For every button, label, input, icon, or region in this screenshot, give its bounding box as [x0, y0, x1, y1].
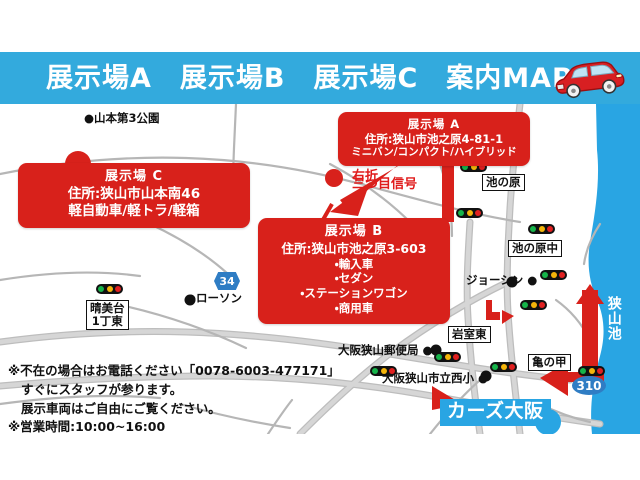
note-line-1: ※不在の場合はお電話ください「0078-6003-477171」 [8, 362, 340, 381]
boxlabel-harumidai: 晴美台 1丁東 [86, 300, 129, 330]
route-shield-34: 34 [214, 272, 240, 290]
header-bar: 展示場A 展示場B 展示場C 案内MAP [0, 52, 640, 104]
callout-a-title: 展示場 A [342, 117, 526, 132]
signal-icon [434, 352, 461, 362]
signal-icon [528, 224, 555, 234]
callout-b-address: 住所:狭山市池之原3-603 [262, 241, 446, 257]
callout-b-item: ・輸入車 [262, 257, 446, 272]
footer-note: ※不在の場合はお電話ください「0078-6003-477171」 すぐにスタッフ… [8, 362, 340, 437]
callout-tenjijo-c: 展示場 C 住所:狭山市山本南46 軽自動車/軽トラ/軽箱 [18, 163, 250, 228]
poi-nishi-elementary: 大阪狭山市立西小 ● [382, 372, 488, 385]
note-line-3: 展示車両はご自由にご覧ください。 [8, 400, 340, 419]
signal-icon [456, 208, 483, 218]
boxlabel-kamenoko: 亀の甲 [528, 354, 571, 371]
callout-tenjijo-a: 展示場 A 住所:狭山市池之原4-81-1 ミニバン/コンパクト/ハイブリッド [338, 112, 530, 166]
lake-label: 狭山池 [606, 296, 621, 341]
callout-b-item: ・セダン [262, 271, 446, 286]
signal-icon [578, 366, 605, 376]
note-line-2: すぐにスタッフが参ります。 [8, 381, 340, 400]
callout-a-address: 住所:狭山市池之原4-81-1 [342, 132, 526, 147]
page-title: 展示場A 展示場B 展示場C 案内MAP [46, 65, 573, 92]
poi-yamamoto-park: ●山本第3公園 [84, 112, 160, 125]
route-shield-310: 310 [572, 376, 606, 395]
cars-osaka-banner: カーズ大阪 [440, 399, 551, 426]
callout-a-detail: ミニバン/コンパクト/ハイブリッド [342, 146, 526, 159]
boxlabel-ikenohara: 池の原 [482, 174, 525, 191]
label-right-turn: 右折 [352, 170, 378, 184]
callout-b-item: ・商用車 [262, 301, 446, 316]
callout-c-title: 展示場 C [22, 169, 246, 186]
signal-icon [520, 300, 547, 310]
note-line-4: ※営業時間:10:00~16:00 [8, 418, 340, 437]
signal-icon [370, 366, 397, 376]
boxlabel-iwamuro-higashi: 岩室東 [448, 326, 491, 343]
marker-tenjijo-a [325, 169, 343, 187]
callout-b-item: ・ステーションワゴン [262, 286, 446, 301]
callout-c-detail: 軽自動車/軽トラ/軽箱 [22, 203, 246, 220]
signal-icon [540, 270, 567, 280]
poi-lawson: ●ローソン [186, 292, 242, 305]
poi-post-office: 大阪狭山郵便局 ● [338, 344, 433, 357]
poi-joshin: ジョーシン ● [466, 274, 537, 287]
signal-icon [96, 284, 123, 294]
callout-b-title: 展示場 B [262, 224, 446, 241]
callout-c-address: 住所:狭山市山本南46 [22, 186, 246, 203]
map-flyer: 展示場A 展示場B 展示場C 案内MAP [0, 0, 640, 480]
callout-tenjijo-b: 展示場 B 住所:狭山市池之原3-603 ・輸入車 ・セダン ・ステーションワゴ… [258, 218, 450, 324]
signal-icon [490, 362, 517, 372]
boxlabel-ikenohara-naka: 池の原中 [508, 240, 562, 257]
red-car-icon [548, 56, 628, 100]
